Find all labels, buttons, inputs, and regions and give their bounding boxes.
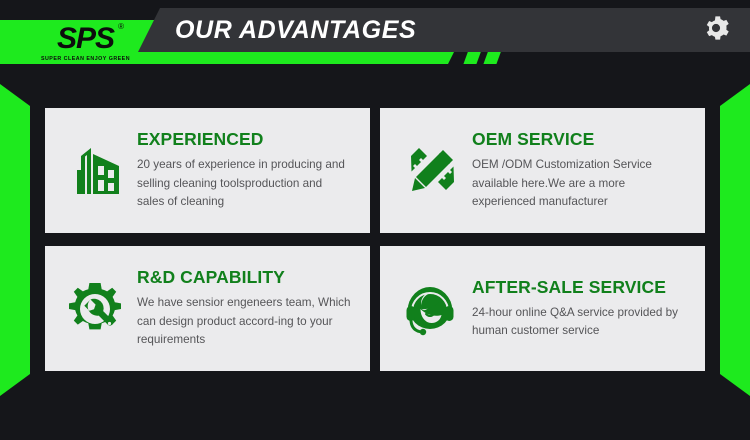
card-title: OEM SERVICE <box>472 129 687 150</box>
card-body: AFTER-SALE SERVICE 24-hour online Q&A se… <box>466 277 691 341</box>
building-icon <box>59 136 131 206</box>
gear-icon <box>702 14 730 47</box>
headset-support-icon <box>394 274 466 344</box>
advantages-page: SPS ® SUPER CLEAN ENJOY GREEN OUR ADVANT… <box>0 0 750 440</box>
header-dash-2 <box>483 50 501 64</box>
gear-wrench-icon <box>59 274 131 344</box>
logo-registered-mark: ® <box>118 23 123 31</box>
page-title: OUR ADVANTAGES <box>175 8 416 52</box>
card-description: 20 years of experience in producing and … <box>137 156 352 211</box>
advantage-card-after-sale-service[interactable]: AFTER-SALE SERVICE 24-hour online Q&A se… <box>380 246 705 371</box>
advantage-card-rd-capability[interactable]: R&D CAPABILITY We have sensior engeneers… <box>45 246 370 371</box>
brand-logo[interactable]: SPS ® SUPER CLEAN ENJOY GREEN <box>33 22 138 64</box>
header-dash-1 <box>463 50 481 64</box>
pencil-ruler-icon <box>394 136 466 206</box>
advantages-grid: EXPERIENCED 20 years of experience in pr… <box>45 108 705 371</box>
card-body: R&D CAPABILITY We have sensior engeneers… <box>131 267 356 349</box>
right-accent-rail <box>720 84 750 396</box>
card-title: AFTER-SALE SERVICE <box>472 277 687 298</box>
settings-button[interactable] <box>696 10 736 50</box>
logo-wordmark: SPS ® <box>57 24 114 54</box>
card-title: EXPERIENCED <box>137 129 352 150</box>
card-description: OEM /ODM Customization Service available… <box>472 156 687 211</box>
logo-tagline: SUPER CLEAN ENJOY GREEN <box>41 56 130 62</box>
page-header: SPS ® SUPER CLEAN ENJOY GREEN OUR ADVANT… <box>0 0 750 84</box>
left-accent-rail <box>0 84 30 396</box>
card-description: We have sensior engeneers team, Which ca… <box>137 294 352 349</box>
advantage-card-experienced[interactable]: EXPERIENCED 20 years of experience in pr… <box>45 108 370 233</box>
card-body: OEM SERVICE OEM /ODM Customization Servi… <box>466 129 691 211</box>
card-title: R&D CAPABILITY <box>137 267 352 288</box>
logo-mark-text: SPS <box>57 22 114 55</box>
card-description: 24-hour online Q&A service provided by h… <box>472 304 687 341</box>
card-body: EXPERIENCED 20 years of experience in pr… <box>131 129 356 211</box>
advantage-card-oem-service[interactable]: OEM SERVICE OEM /ODM Customization Servi… <box>380 108 705 233</box>
